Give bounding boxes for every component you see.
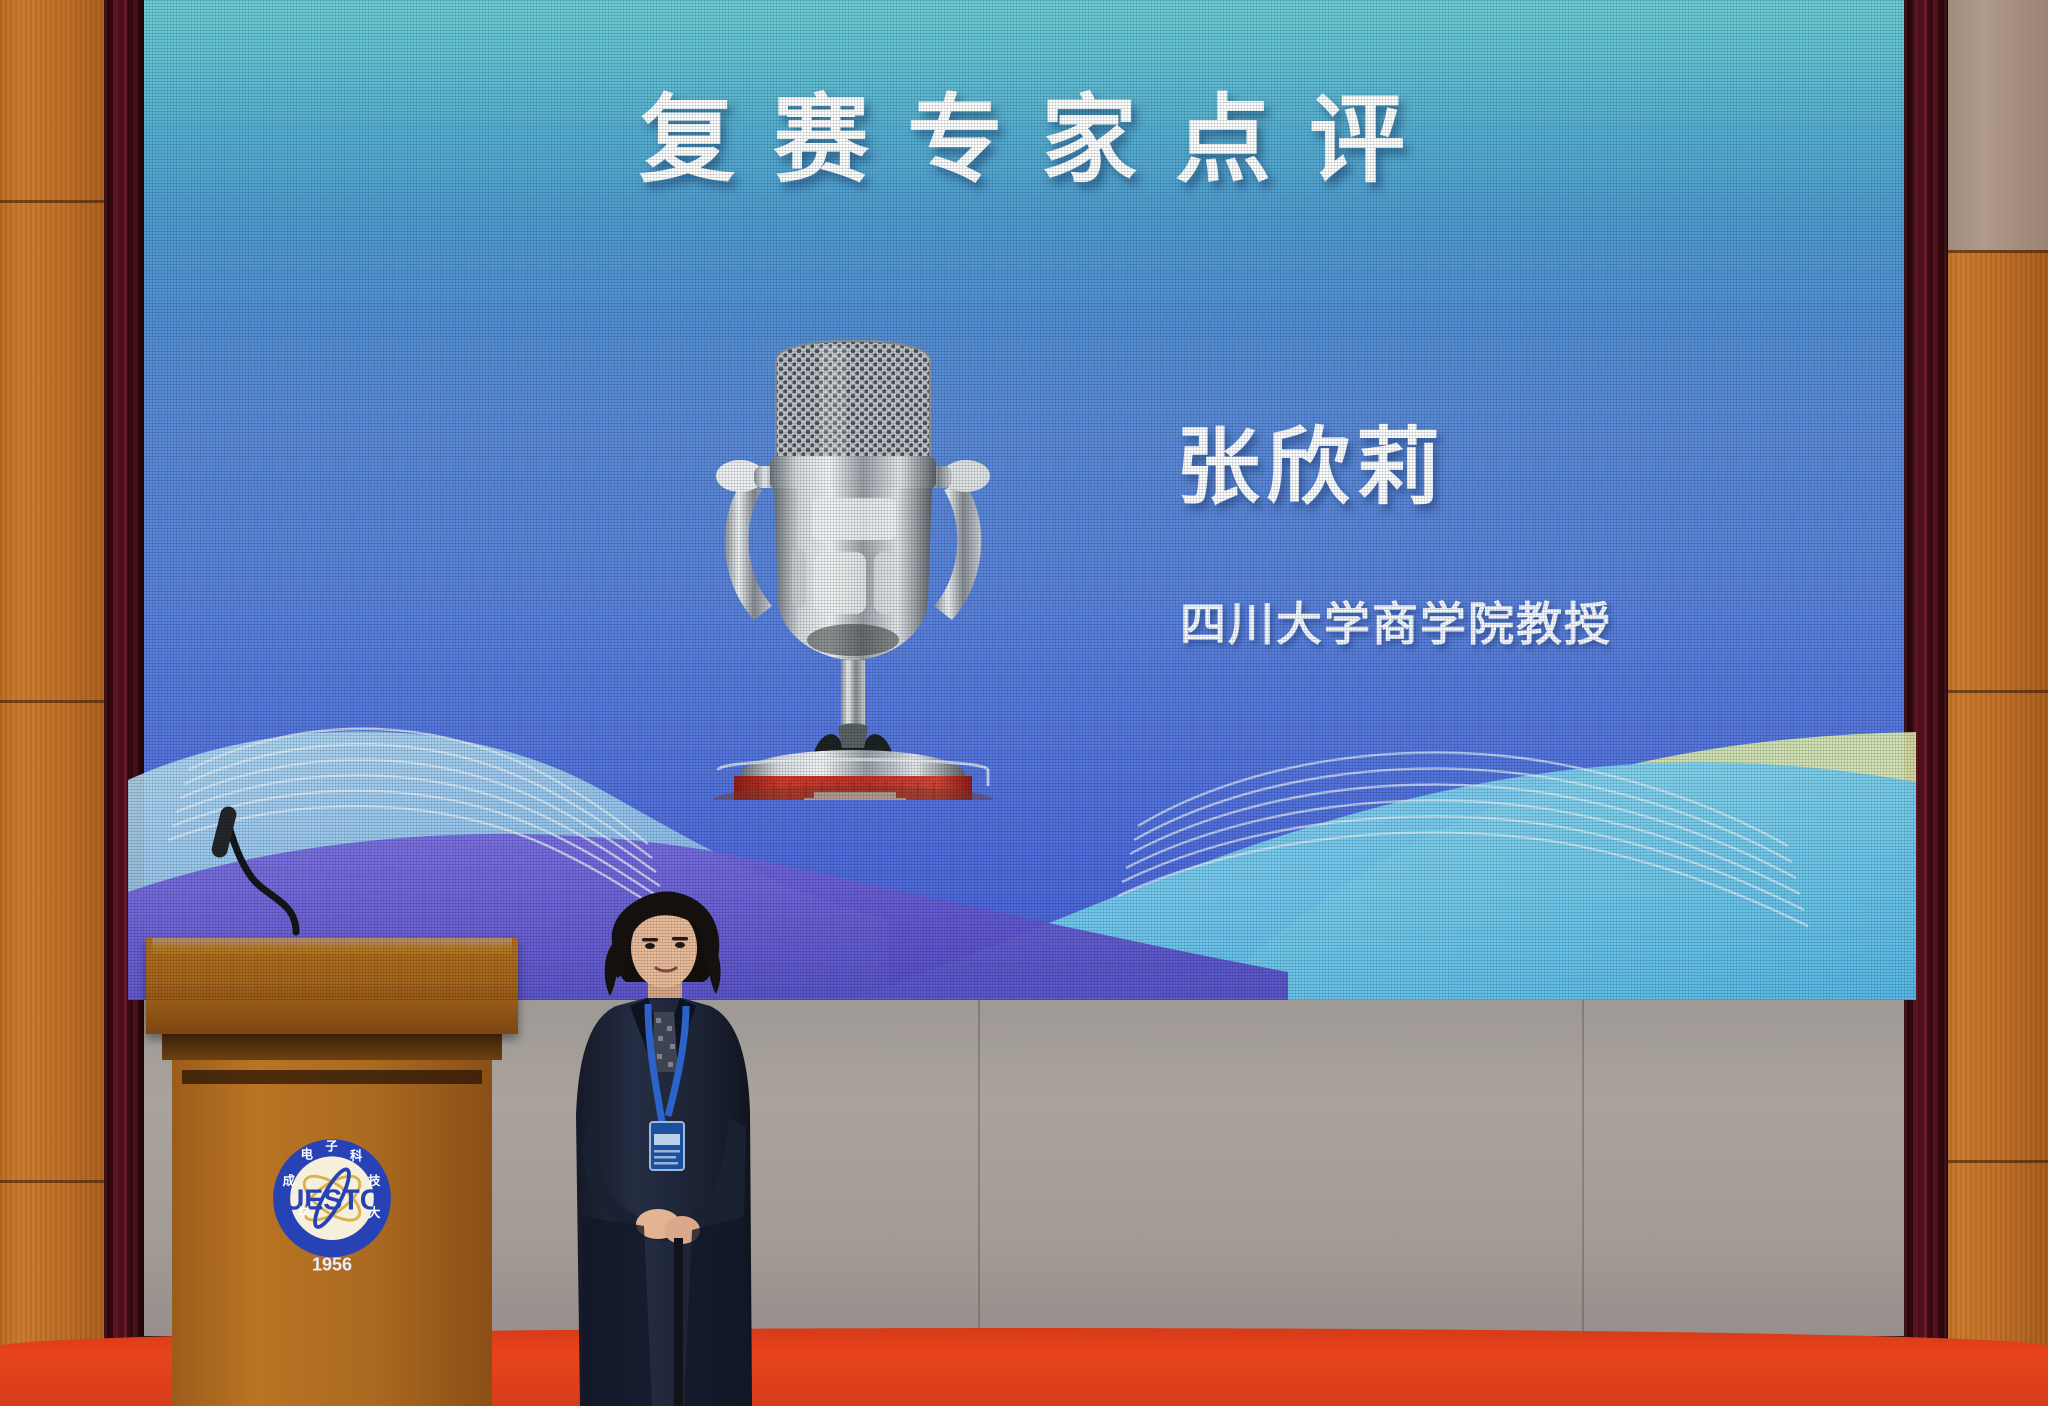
led-screen: 复赛专家点评	[128, 0, 1916, 1000]
speaker-person	[556, 886, 766, 1406]
podium-lip	[162, 1034, 502, 1060]
uestc-logo: UESTC 电子科 技大学 成 1956	[256, 1126, 408, 1278]
speaker-name: 张欣莉	[1176, 400, 1446, 521]
wood-wall-left	[0, 0, 112, 1406]
svg-text:学: 学	[298, 1205, 310, 1220]
podium-top-surface	[146, 938, 518, 1034]
speaker-title: 四川大学商学院教授	[1180, 588, 1612, 654]
stage-scene: 复赛专家点评	[0, 0, 2048, 1406]
page-title: 复赛专家点评	[128, 62, 1916, 201]
svg-text:电: 电	[301, 1146, 314, 1161]
uestc-logo-year: 1956	[312, 1254, 352, 1274]
podium: UESTC 电子科 技大学 成 1956	[146, 916, 518, 1406]
svg-text:大: 大	[368, 1205, 381, 1220]
svg-text:科: 科	[350, 1148, 363, 1163]
microphone-trophy-icon	[688, 330, 1018, 800]
wood-wall-right	[1940, 0, 2048, 1406]
svg-text:子: 子	[325, 1140, 337, 1154]
svg-text:技: 技	[368, 1173, 381, 1188]
svg-text:成: 成	[283, 1173, 296, 1188]
